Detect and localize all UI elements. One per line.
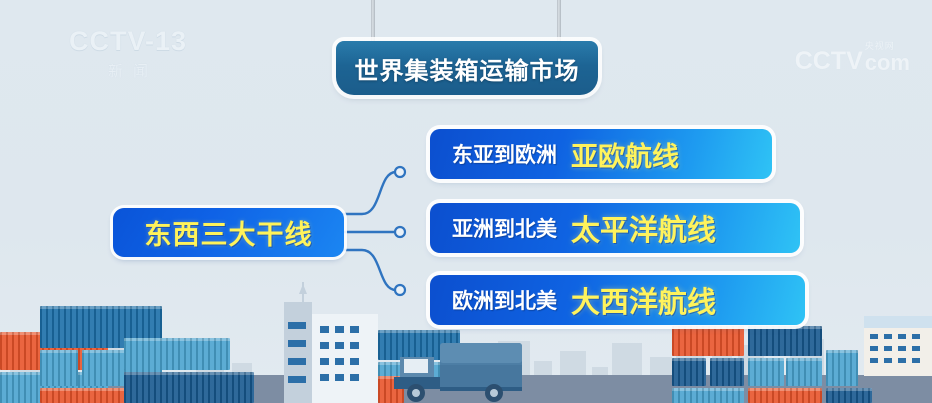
cctv13-logo-subtitle: 新闻	[48, 60, 208, 81]
route-row-asia-northamerica[interactable]: 亚洲到北美 太平洋航线	[430, 203, 800, 253]
delivery-truck	[392, 341, 524, 403]
container-block	[748, 388, 822, 403]
container-block	[672, 326, 744, 356]
title-banner: 世界集装箱运输市场	[336, 41, 598, 95]
route-highlight-text: 亚欧航线	[571, 135, 679, 174]
route-lead-text: 东亚到欧洲	[452, 139, 557, 169]
watermark-suffix: com	[865, 52, 910, 74]
watermark-chinese: 央视网	[865, 42, 895, 51]
route-row-europe-northamerica[interactable]: 欧洲到北美 大西洋航线	[430, 275, 805, 325]
building-side-stripes	[284, 318, 310, 398]
building-windows	[312, 314, 378, 403]
building-antenna	[296, 282, 310, 308]
left-category-label-text: 东西三大干线	[145, 213, 313, 252]
cctv13-logo-mark: CCTV-13	[48, 28, 208, 55]
broadcast-graphic-stage: CCTV-13 新闻 CCTV 央视网 com 世界集装箱运输市场 东西三大干线	[0, 0, 932, 403]
route-highlight-text: 大西洋航线	[571, 279, 716, 321]
cctv-com-watermark: CCTV 央视网 com	[795, 42, 910, 74]
container-block	[826, 388, 872, 403]
container-block	[826, 350, 858, 386]
container-block	[124, 372, 254, 403]
watermark-brand: CCTV	[795, 49, 863, 74]
route-highlight-text: 太平洋航线	[571, 207, 716, 249]
route-lead-text: 亚洲到北美	[452, 213, 557, 243]
cctv13-channel-logo: CCTV-13 新闻	[48, 28, 208, 81]
connector-lines	[340, 150, 440, 310]
left-category-label[interactable]: 东西三大干线	[113, 208, 344, 257]
warehouse-windows	[864, 330, 932, 376]
route-lead-text: 欧洲到北美	[452, 285, 557, 315]
container-block	[40, 350, 78, 386]
container-block	[748, 326, 822, 356]
route-row-asia-europe[interactable]: 东亚到欧洲 亚欧航线	[430, 129, 772, 179]
container-block	[672, 388, 744, 403]
container-block	[748, 358, 784, 386]
container-block	[710, 358, 744, 386]
container-block	[124, 338, 230, 370]
container-block	[672, 358, 706, 386]
title-banner-text: 世界集装箱运输市场	[355, 51, 580, 86]
container-block	[786, 358, 822, 386]
warehouse-roof	[864, 316, 932, 328]
